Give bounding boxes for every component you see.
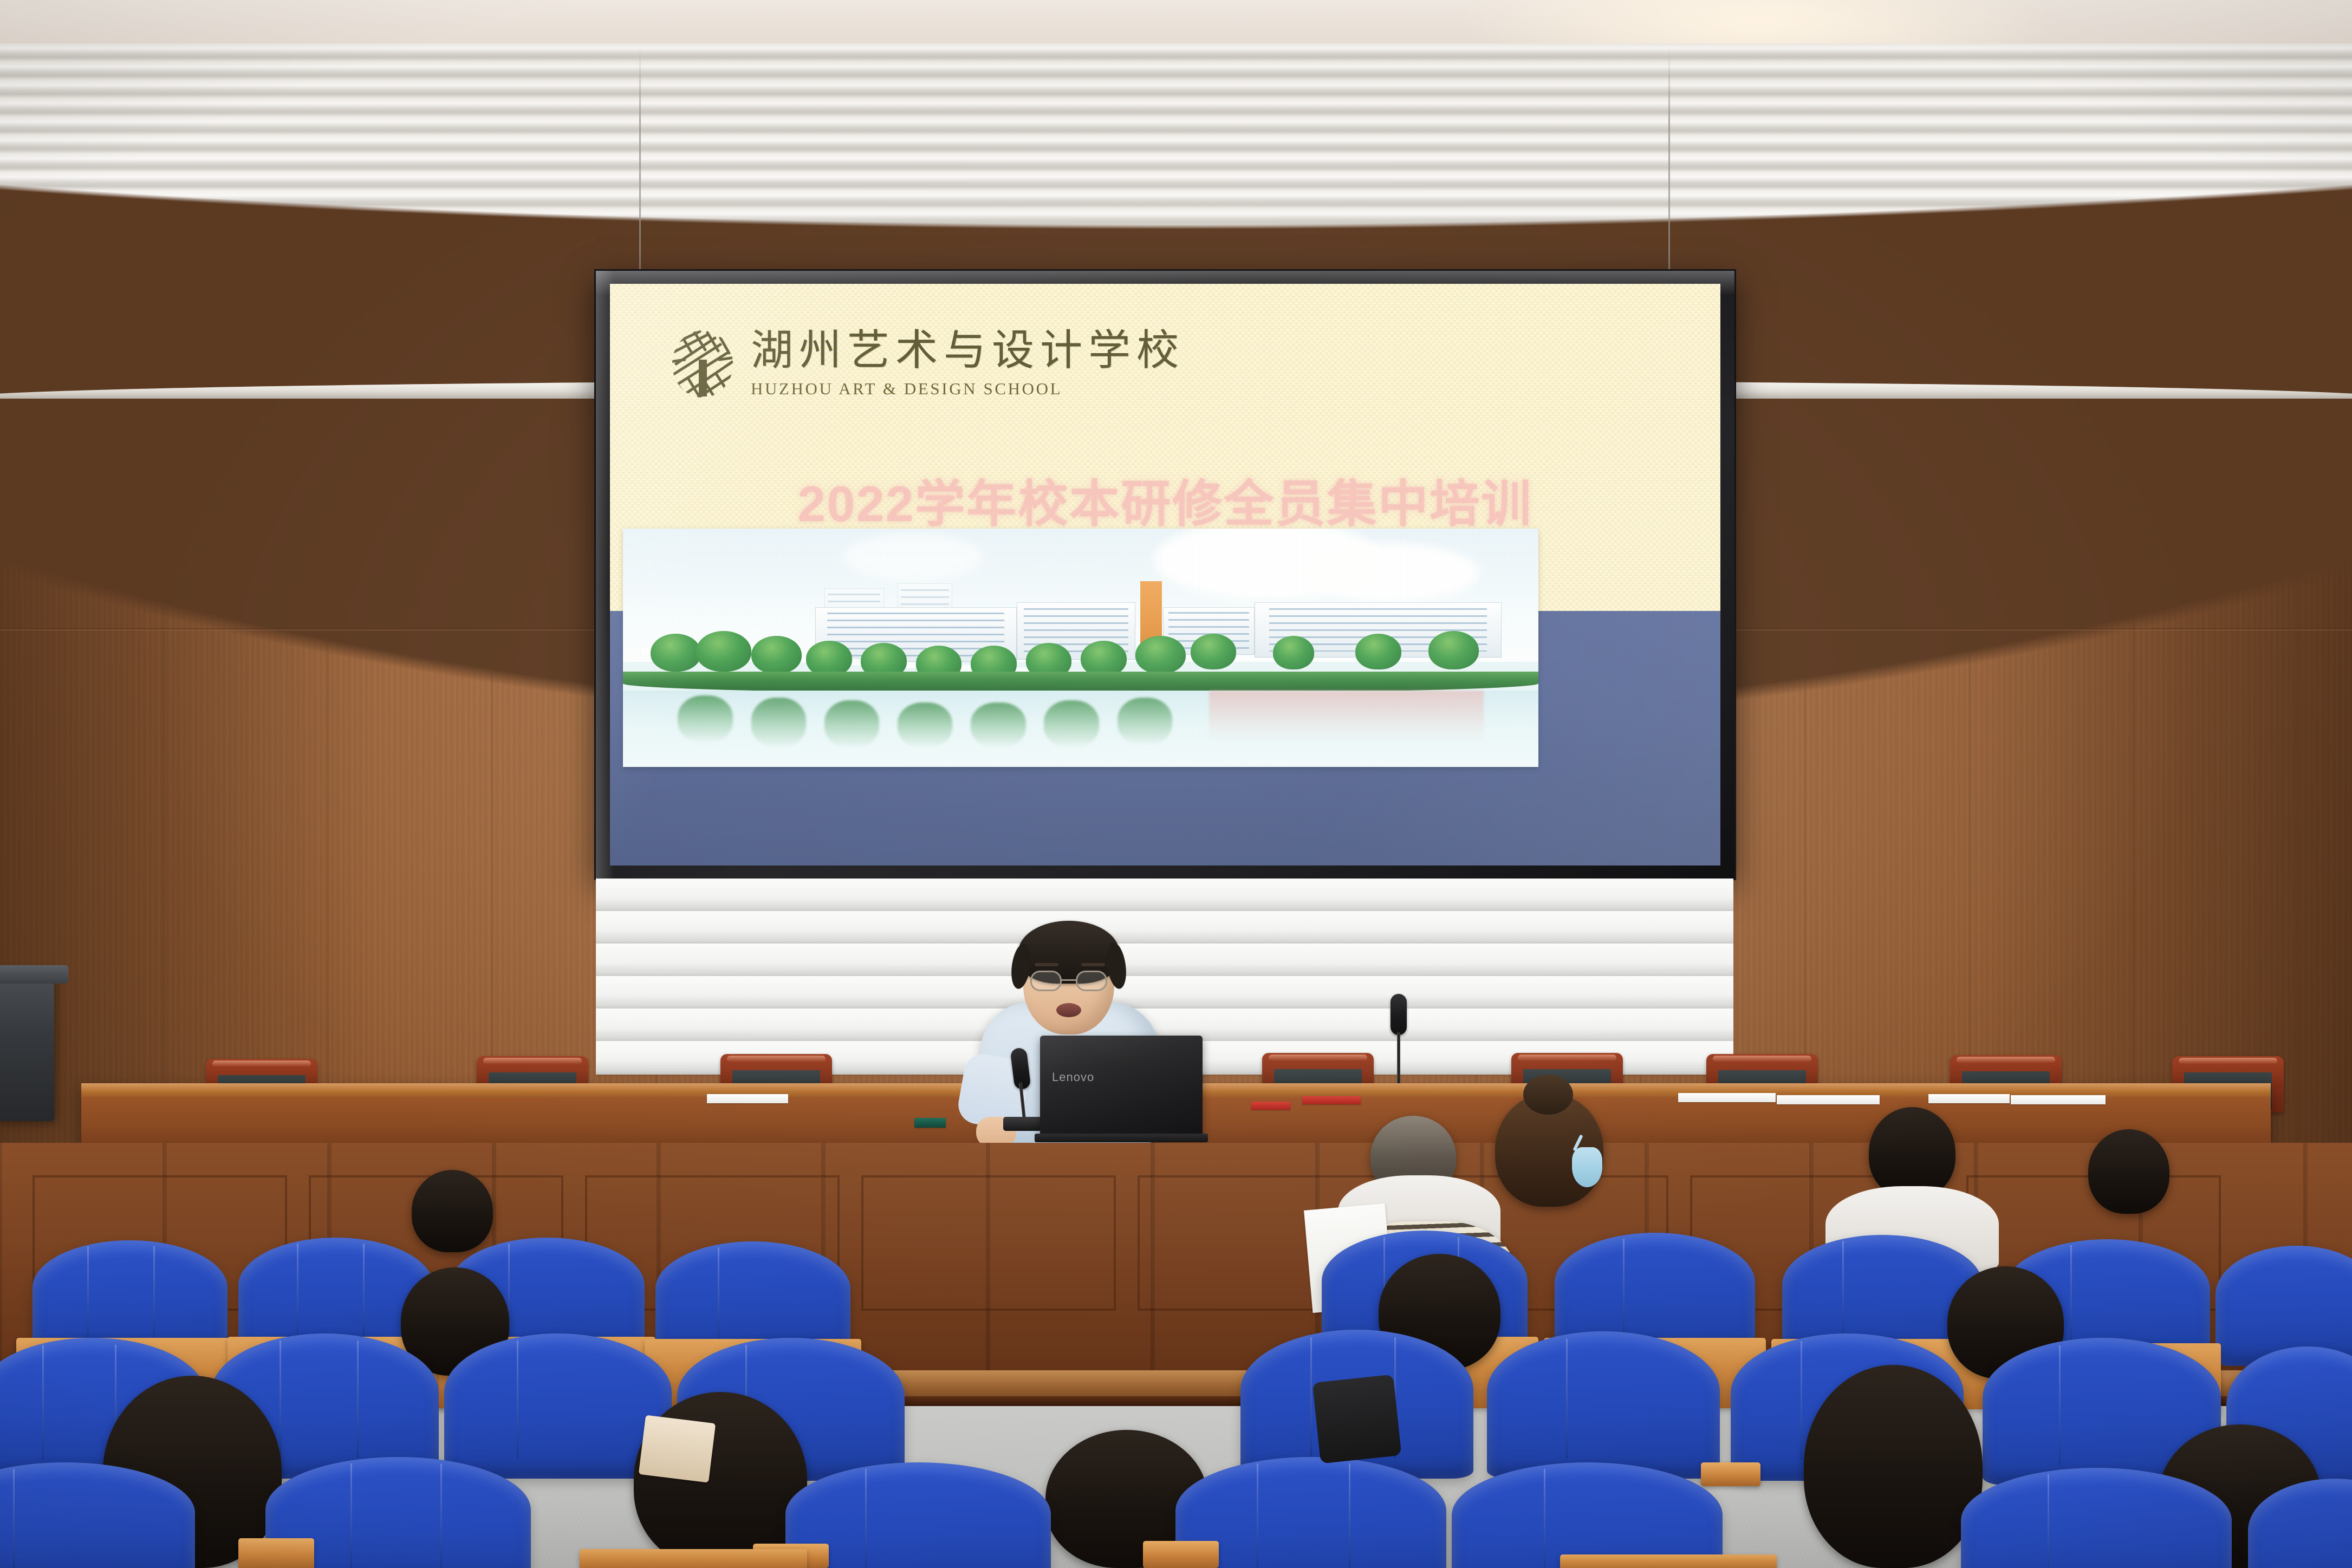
seat-fold <box>357 1341 359 1458</box>
laptop-brand-label: Lenovo <box>1052 1070 1094 1084</box>
chair-highlight <box>212 1060 310 1067</box>
shoulder-bag[interactable] <box>1313 1375 1402 1464</box>
school-emblem-icon <box>668 328 737 400</box>
seat-backrest <box>1487 1331 1720 1479</box>
seat-armrest[interactable] <box>238 1538 314 1568</box>
table-microphone-head <box>1391 994 1407 1035</box>
chair-highlight <box>2179 1058 2277 1064</box>
person-head <box>1804 1365 1983 1568</box>
photo-reflection <box>678 695 732 743</box>
seat-fold <box>1349 1463 1350 1568</box>
photo-tree <box>1191 634 1237 669</box>
presenter-glasses-icon <box>1030 971 1107 991</box>
auditorium-seat[interactable] <box>0 1462 195 1568</box>
photo-reflection <box>1117 698 1172 745</box>
photo-reflection <box>824 700 879 748</box>
person-head <box>1869 1107 1955 1198</box>
table-paper[interactable] <box>707 1094 788 1103</box>
seat-armrest[interactable] <box>1143 1541 1219 1568</box>
seat-fold <box>718 1247 719 1342</box>
photo-tree <box>751 636 802 674</box>
chair-highlight <box>1269 1055 1367 1061</box>
seat-fold <box>2059 1345 2061 1465</box>
photo-tree <box>1135 636 1186 674</box>
table-paper[interactable] <box>1928 1094 2010 1103</box>
photo-reflection <box>898 702 952 748</box>
seat-wood-back <box>1560 1554 1777 1568</box>
seat-fold <box>87 1246 89 1341</box>
seat-fold <box>2048 1474 2049 1568</box>
photo-tree <box>696 631 751 672</box>
seat-fold <box>297 1244 298 1339</box>
campus-panorama-photo <box>623 529 1538 767</box>
face-mask <box>1572 1147 1602 1187</box>
seat-fold <box>865 1469 867 1568</box>
seat-backrest <box>1452 1462 1723 1568</box>
chair-highlight <box>1518 1055 1616 1061</box>
presenter-eyebrow <box>1035 963 1058 966</box>
seat-fold <box>517 1341 518 1458</box>
audience-person <box>1869 1107 1955 1198</box>
table-paper[interactable] <box>2011 1095 2106 1104</box>
presenter-microphone-base <box>1003 1117 1042 1131</box>
table-paper[interactable] <box>1678 1093 1776 1102</box>
seat-fold <box>1566 1339 1568 1458</box>
audience-person <box>2088 1129 2169 1214</box>
slide-logo-row: 湖州艺术与设计学校 HUZHOU ART & DESIGN SCHOOL <box>668 328 1185 400</box>
laptop-base <box>1035 1134 1208 1142</box>
seat-backrest <box>1961 1468 2232 1568</box>
chair-highlight <box>1713 1056 1811 1062</box>
lectern-top <box>0 965 68 984</box>
auditorium-seat[interactable] <box>1961 1468 2232 1568</box>
person-head <box>2088 1129 2169 1214</box>
seat-fold <box>1310 1337 1312 1458</box>
school-name-en: HUZHOU ART & DESIGN SCHOOL <box>751 379 1185 399</box>
seat-fold <box>1842 1241 1844 1340</box>
audience-person-foreground <box>1804 1365 1983 1568</box>
photo-tree <box>806 641 852 676</box>
auditorium-scene: 湖州艺术与设计学校 HUZHOU ART & DESIGN SCHOOL 202… <box>0 0 2352 1568</box>
seat-fold <box>363 1244 365 1339</box>
chair-highlight <box>483 1058 581 1064</box>
school-name-cn: 湖州艺术与设计学校 <box>751 329 1185 372</box>
wall-step <box>596 879 1733 912</box>
photo-tree <box>1273 636 1314 669</box>
seat-fold <box>350 1463 352 1568</box>
photo-embankment <box>623 672 1538 693</box>
seat-fold <box>1544 1469 1545 1568</box>
seat-fold <box>13 1469 15 1568</box>
auditorium-seat[interactable] <box>1452 1462 1723 1568</box>
seat-fold <box>1801 1341 1802 1460</box>
chair-highlight <box>727 1056 825 1062</box>
seat-fold <box>1257 1463 1258 1568</box>
person-hair-bun <box>1523 1075 1573 1115</box>
presenter-mouth <box>1056 1003 1081 1017</box>
led-screen-bezel: 湖州艺术与设计学校 HUZHOU ART & DESIGN SCHOOL 202… <box>596 271 1734 879</box>
presenter-eyebrow <box>1081 963 1105 966</box>
audience-person-masked <box>1495 1093 1603 1207</box>
chair-highlight <box>1957 1057 2055 1063</box>
photo-cloud <box>1301 543 1479 602</box>
table-red-folder[interactable] <box>1251 1102 1290 1110</box>
seat-fold <box>1623 1239 1625 1338</box>
seat-backrest <box>2248 1479 2352 1568</box>
seat-wood-back <box>580 1549 807 1568</box>
photo-cloud <box>843 533 984 580</box>
seat-fold <box>42 1345 44 1460</box>
glasses-lens-left <box>1030 971 1062 991</box>
table-paper[interactable] <box>1777 1095 1880 1104</box>
photo-tree <box>1355 634 1401 669</box>
photo-reflection <box>971 702 1025 748</box>
stage-front-panel <box>861 1175 1116 1311</box>
photo-reflection <box>1044 700 1099 748</box>
glasses-lens-right <box>1076 971 1107 991</box>
seat-backrest <box>0 1462 195 1568</box>
photo-reflection <box>751 698 806 747</box>
auditorium-seat[interactable] <box>1487 1331 1720 1479</box>
photo-tree <box>651 634 701 672</box>
photo-tree <box>1428 631 1479 669</box>
seat-fold <box>440 1463 442 1568</box>
belongings-on-seat[interactable] <box>639 1415 716 1482</box>
seat-fold <box>153 1246 155 1341</box>
glasses-bridge <box>1062 979 1076 981</box>
seat-fold <box>2070 1245 2072 1345</box>
slide-school-name-block: 湖州艺术与设计学校 HUZHOU ART & DESIGN SCHOOL <box>751 329 1185 399</box>
table-red-folder[interactable] <box>1302 1096 1361 1104</box>
auditorium-seat[interactable] <box>2248 1479 2352 1568</box>
lectern-podium[interactable] <box>0 970 54 1121</box>
led-screen-display[interactable]: 湖州艺术与设计学校 HUZHOU ART & DESIGN SCHOOL 202… <box>610 284 1720 866</box>
presenter-laptop[interactable]: Lenovo <box>1040 1036 1203 1137</box>
slide-title: 2022学年校本研修全员集中培训 <box>610 464 1720 536</box>
photo-tree <box>1081 641 1127 676</box>
photo-reflection-building <box>1209 691 1484 743</box>
phone-on-table[interactable] <box>914 1118 946 1128</box>
